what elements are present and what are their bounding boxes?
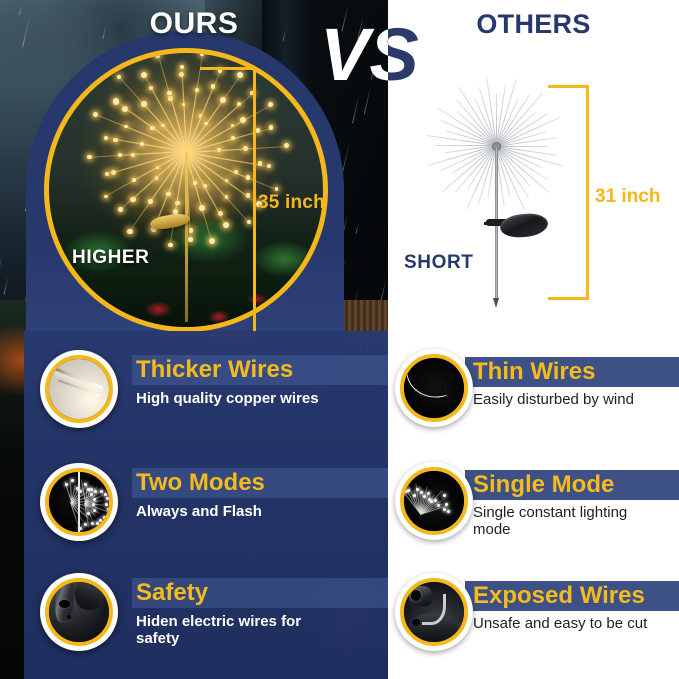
others-panel: OTHERS 31 inch SHORT — [388, 0, 679, 679]
ours-panel: 35 inch HIGHER OURS Thicker Wires High q… — [0, 0, 388, 679]
ours-header: OURS — [0, 7, 388, 41]
feature-row: Thicker Wires High quality copper wires — [40, 350, 388, 442]
feature-row: Single Mode Single constant lighting mod… — [395, 462, 679, 554]
feature-subtitle: High quality copper wires — [136, 390, 388, 407]
comparison-infographic: 35 inch HIGHER OURS Thicker Wires High q… — [0, 0, 679, 679]
feature-title: Two Modes — [136, 468, 388, 498]
feature-row: Two Modes Always and Flash — [40, 463, 388, 555]
ours-product-photo — [44, 48, 328, 332]
two-lighting-modes-icon — [40, 463, 118, 541]
product-stem — [185, 152, 188, 322]
feature-title: Safety — [136, 578, 388, 608]
feature-row: Safety Hiden electric wires for safety — [40, 573, 388, 673]
feature-title: Exposed Wires — [467, 581, 679, 611]
feature-row: Thin Wires Easily disturbed by wind — [395, 349, 679, 441]
feature-title: Thin Wires — [467, 357, 679, 387]
thick-copper-wire-icon — [40, 350, 118, 428]
measurement-label-ours: 35 inch — [258, 192, 325, 214]
single-lighting-mode-icon — [395, 462, 473, 540]
thin-wire-icon — [395, 349, 473, 427]
hidden-wire-safety-icon — [40, 573, 118, 651]
exposed-wire-icon — [395, 573, 473, 651]
measurement-label-others: 31 inch — [595, 186, 660, 208]
feature-title: Thicker Wires — [136, 355, 388, 385]
feature-subtitle: Single constant lighting mode — [467, 504, 647, 538]
ground-stake-tip — [493, 298, 499, 308]
feature-subtitle: Always and Flash — [136, 503, 388, 520]
feature-title: Single Mode — [467, 470, 679, 500]
feature-subtitle: Unsafe and easy to be cut — [467, 615, 652, 632]
others-header: OTHERS — [388, 9, 679, 40]
height-measure-bracket-ours — [196, 67, 256, 337]
height-label-ours: HIGHER — [72, 247, 150, 269]
feature-subtitle: Hiden electric wires for safety — [136, 613, 316, 647]
solar-panel — [499, 212, 549, 240]
height-label-others: SHORT — [404, 252, 474, 274]
feature-row: Exposed Wires Unsafe and easy to be cut — [395, 573, 679, 671]
feature-subtitle: Easily disturbed by wind — [467, 391, 657, 408]
